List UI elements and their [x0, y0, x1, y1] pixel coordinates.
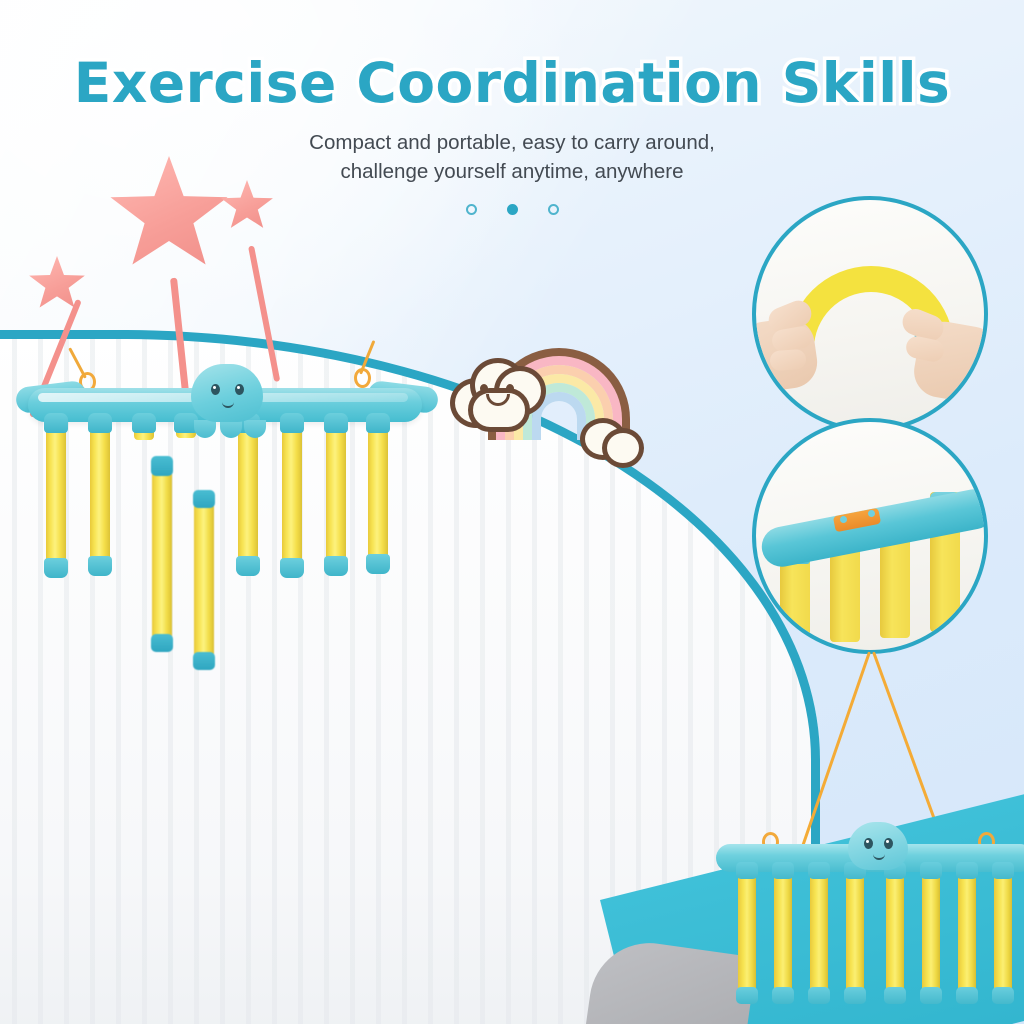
- stick-cap-bottom: [236, 556, 260, 576]
- octopus-head-icon: [191, 364, 263, 422]
- carousel-dot-3[interactable]: [548, 204, 559, 215]
- cap: [992, 987, 1014, 1004]
- cloud-tail-puff-2: [602, 428, 644, 468]
- falling-stick-cap-bottom: [151, 634, 173, 652]
- bottom-toy-stick-2: [774, 868, 792, 1000]
- bottom-octopus-smile: [873, 852, 885, 860]
- bottom-toy-stick-8: [994, 868, 1012, 1000]
- toy-stick-1: [46, 422, 66, 574]
- stick-cap-top: [132, 413, 156, 433]
- octopus-eye-right: [235, 384, 244, 395]
- star-trail-right: [248, 245, 280, 382]
- cap: [808, 862, 830, 879]
- falling-stick-1: [152, 458, 172, 650]
- stick-cap-bottom: [88, 556, 112, 576]
- stick-cap-top: [324, 413, 348, 433]
- cap: [844, 987, 866, 1004]
- cap: [772, 987, 794, 1004]
- stick-cap-bottom: [366, 554, 390, 574]
- falling-stick-cap-bottom: [193, 652, 215, 670]
- child-girl: [20, 970, 380, 1024]
- toy-stick-2: [90, 422, 110, 572]
- carousel-dot-1[interactable]: [466, 204, 477, 215]
- toy-stick-5: [238, 422, 258, 572]
- control-button-left[interactable]: [840, 516, 847, 523]
- stick-cap-bottom: [280, 558, 304, 578]
- cloud-eye-right: [506, 384, 514, 393]
- bottom-toy-stick-1: [738, 868, 756, 1000]
- inset-flexible-stick-demo: [752, 196, 988, 432]
- star-burst-decoration: [20, 150, 340, 410]
- octopus-eye-left: [211, 384, 220, 395]
- stick-cap-bottom: [44, 558, 68, 578]
- stick-cap-top: [366, 413, 390, 433]
- octopus-leg-3: [244, 420, 266, 438]
- stick-cap-top: [280, 413, 304, 433]
- toy-stick-7: [326, 422, 346, 572]
- stick-cap-top: [44, 413, 68, 433]
- star-small-right-icon: [220, 180, 274, 232]
- cap: [884, 987, 906, 1004]
- star-large-icon: [108, 156, 230, 274]
- cap: [920, 862, 942, 879]
- cap: [808, 987, 830, 1004]
- bottom-toy-stick-4: [846, 868, 864, 1000]
- cap: [956, 862, 978, 879]
- bottom-toy-stick-6: [922, 868, 940, 1000]
- cloud-eye-left: [480, 384, 488, 393]
- product-octopus-stick-toy: [16, 378, 436, 608]
- octopus-smile: [222, 400, 234, 408]
- toy-stick-6: [282, 422, 302, 574]
- cap: [956, 987, 978, 1004]
- cap: [992, 862, 1014, 879]
- bottom-toy-stick-7: [958, 868, 976, 1000]
- stick-cap-top: [88, 413, 112, 433]
- bottom-toy-stick-5: [886, 868, 904, 1000]
- control-button-right[interactable]: [868, 510, 875, 517]
- cloud-rainbow-sticker: [444, 344, 644, 460]
- bottom-octopus-head-icon: [848, 822, 908, 870]
- bottom-octopus-eye-right: [884, 838, 893, 849]
- cap: [772, 862, 794, 879]
- cap: [920, 987, 942, 1004]
- cap: [736, 987, 758, 1004]
- bottom-product-toy: [716, 836, 1024, 1024]
- falling-stick-cap-top: [193, 490, 215, 508]
- falling-stick-2: [194, 492, 214, 668]
- left-hand-finger-3: [769, 349, 806, 371]
- product-marketing-slide: Exercise Coordination Skills Compact and…: [0, 0, 1024, 1024]
- carousel-dot-2-active[interactable]: [507, 204, 518, 215]
- page-title: Exercise Coordination Skills: [0, 52, 1024, 114]
- cap: [736, 862, 758, 879]
- bottom-octopus-eye-left: [864, 838, 873, 849]
- stick-cap-bottom: [324, 556, 348, 576]
- falling-stick-cap-top: [151, 456, 173, 476]
- toy-stick-4-empty: [176, 422, 196, 438]
- inset-control-panel-closeup: [752, 418, 988, 654]
- toy-stick-3-empty: [134, 422, 154, 440]
- toy-stick-8: [368, 422, 388, 570]
- octopus-leg-1: [194, 420, 216, 438]
- bottom-toy-stick-3: [810, 868, 828, 1000]
